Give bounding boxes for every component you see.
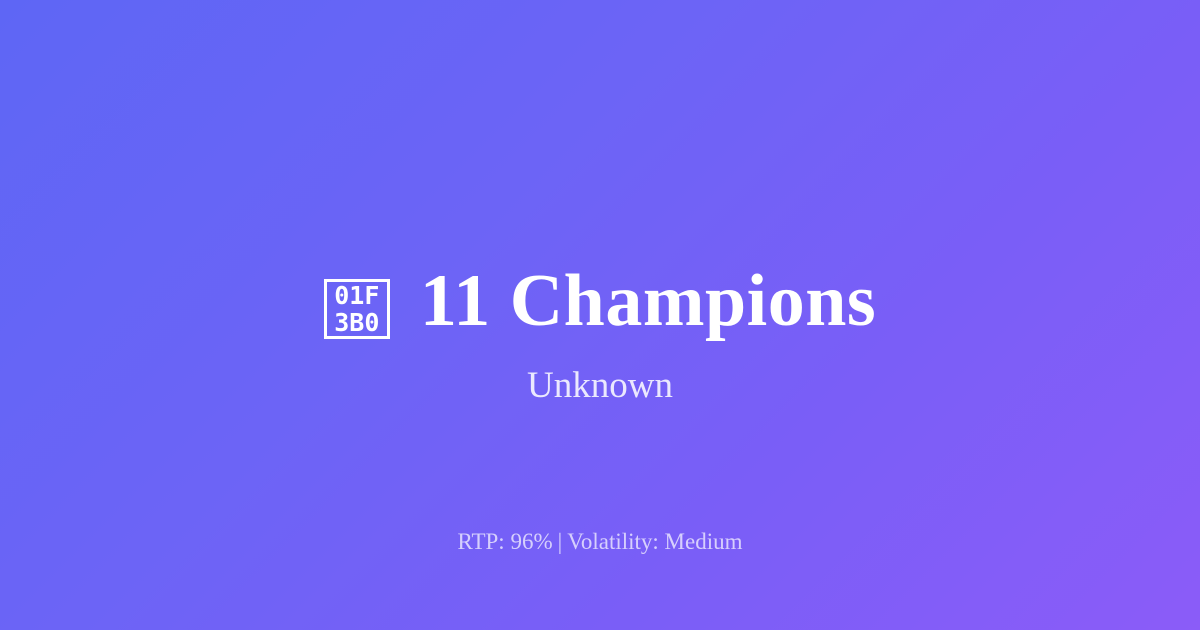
tofu-codepoint-line-2: 3B0 — [327, 309, 387, 336]
rtp-value: RTP: 96% — [458, 529, 553, 554]
tofu-codepoint-line-1: 01F — [327, 282, 387, 309]
footer-meta: RTP: 96%|Volatility: Medium — [0, 528, 1200, 556]
meta-separator: | — [553, 529, 568, 554]
og-card: 01F 3B0 11 Champions Unknown RTP: 96%|Vo… — [0, 0, 1200, 630]
page-subtitle: Unknown — [0, 364, 1200, 408]
title-row: 01F 3B0 11 Champions — [0, 0, 1200, 340]
volatility-value: Volatility: Medium — [567, 529, 742, 554]
page-title: 11 Champions — [420, 262, 876, 340]
slot-machine-icon: 01F 3B0 — [324, 279, 390, 339]
